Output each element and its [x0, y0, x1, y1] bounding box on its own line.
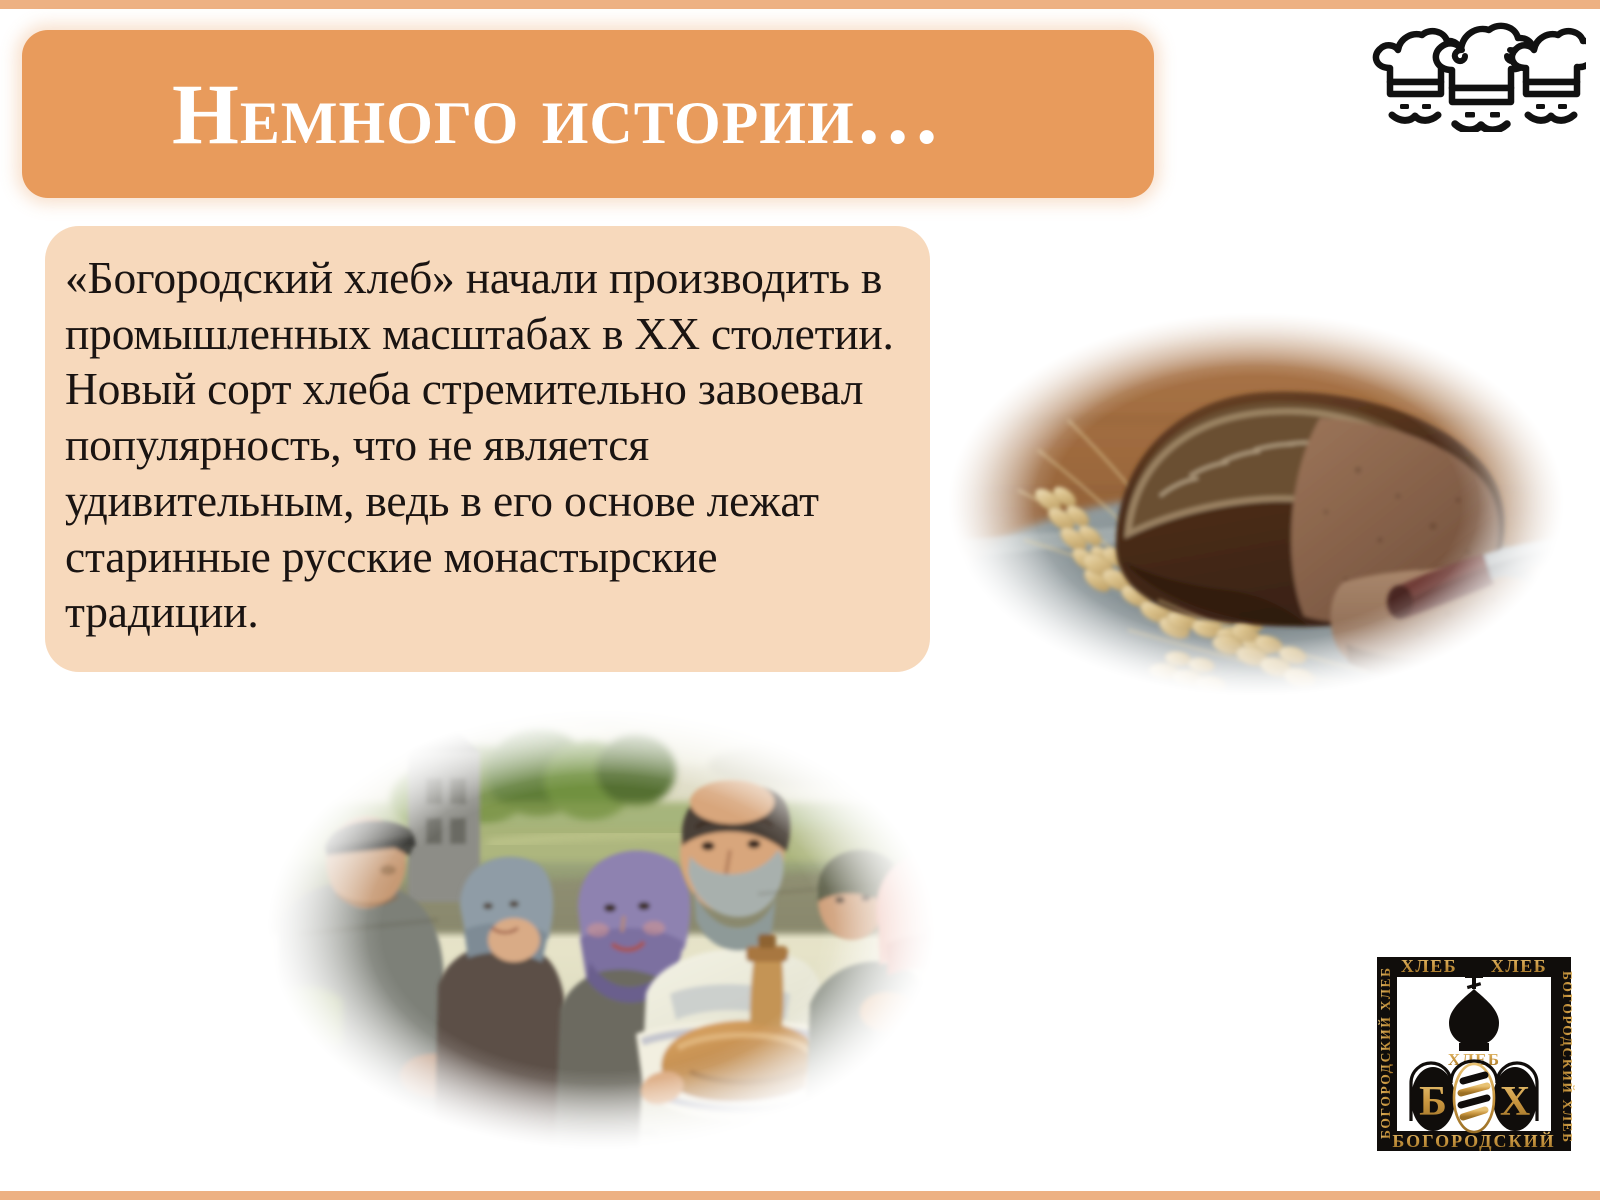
svg-text:БОГОРОДСКИЙ ХЛЕБ: БОГОРОДСКИЙ ХЛЕБ: [1560, 971, 1575, 1144]
svg-text:ХЛЕБ: ХЛЕБ: [1491, 956, 1547, 976]
svg-text:Б: Б: [1419, 1079, 1447, 1125]
title-band: Немного истории…: [22, 30, 1154, 198]
sliced-dark-rye-bread-photo: [928, 300, 1584, 708]
body-paragraph: «Богородский хлеб» начали производить в …: [65, 250, 904, 640]
svg-text:Х: Х: [1500, 1079, 1530, 1125]
villagers-with-bread-and-salt-painting: [238, 694, 964, 1164]
page-title: Немного истории…: [172, 71, 942, 157]
bottom-accent-bar: [0, 1191, 1600, 1200]
bogorodsky-hleb-logo: ХЛЕБ ХЛЕБ БОГОРОДСКИЙ БОГОРОДСКИЙ ХЛЕБ Б…: [1371, 951, 1577, 1157]
body-text-card: «Богородский хлеб» начали производить в …: [45, 226, 930, 672]
svg-text:ХЛЕБ: ХЛЕБ: [1401, 956, 1457, 976]
three-chef-hats-icon: [1368, 22, 1586, 132]
svg-text:БОГОРОДСКИЙ ХЛЕБ: БОГОРОДСКИЙ ХЛЕБ: [1378, 966, 1393, 1139]
top-accent-bar: [0, 0, 1600, 9]
